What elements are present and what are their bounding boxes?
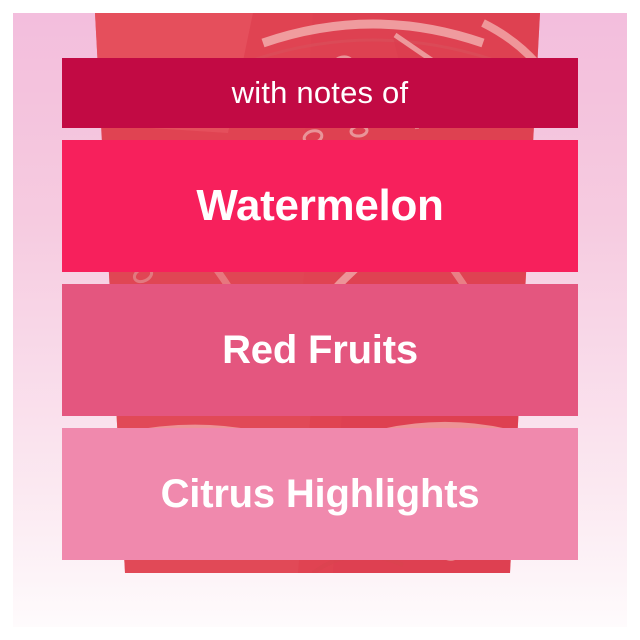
notes-heading-label: with notes of (232, 75, 409, 111)
graphic-canvas: with notes of Watermelon Red Fruits Citr… (0, 0, 640, 640)
note-item-label: Citrus Highlights (161, 472, 480, 517)
background-panel: with notes of Watermelon Red Fruits Citr… (13, 13, 627, 627)
note-item-citrus-highlights: Citrus Highlights (62, 428, 578, 560)
tasting-notes-list: with notes of Watermelon Red Fruits Citr… (62, 58, 578, 560)
note-item-red-fruits: Red Fruits (62, 284, 578, 416)
note-item-watermelon: Watermelon (62, 140, 578, 272)
note-item-label: Red Fruits (222, 328, 418, 373)
notes-heading-band: with notes of (62, 58, 578, 128)
note-item-label: Watermelon (196, 181, 443, 231)
